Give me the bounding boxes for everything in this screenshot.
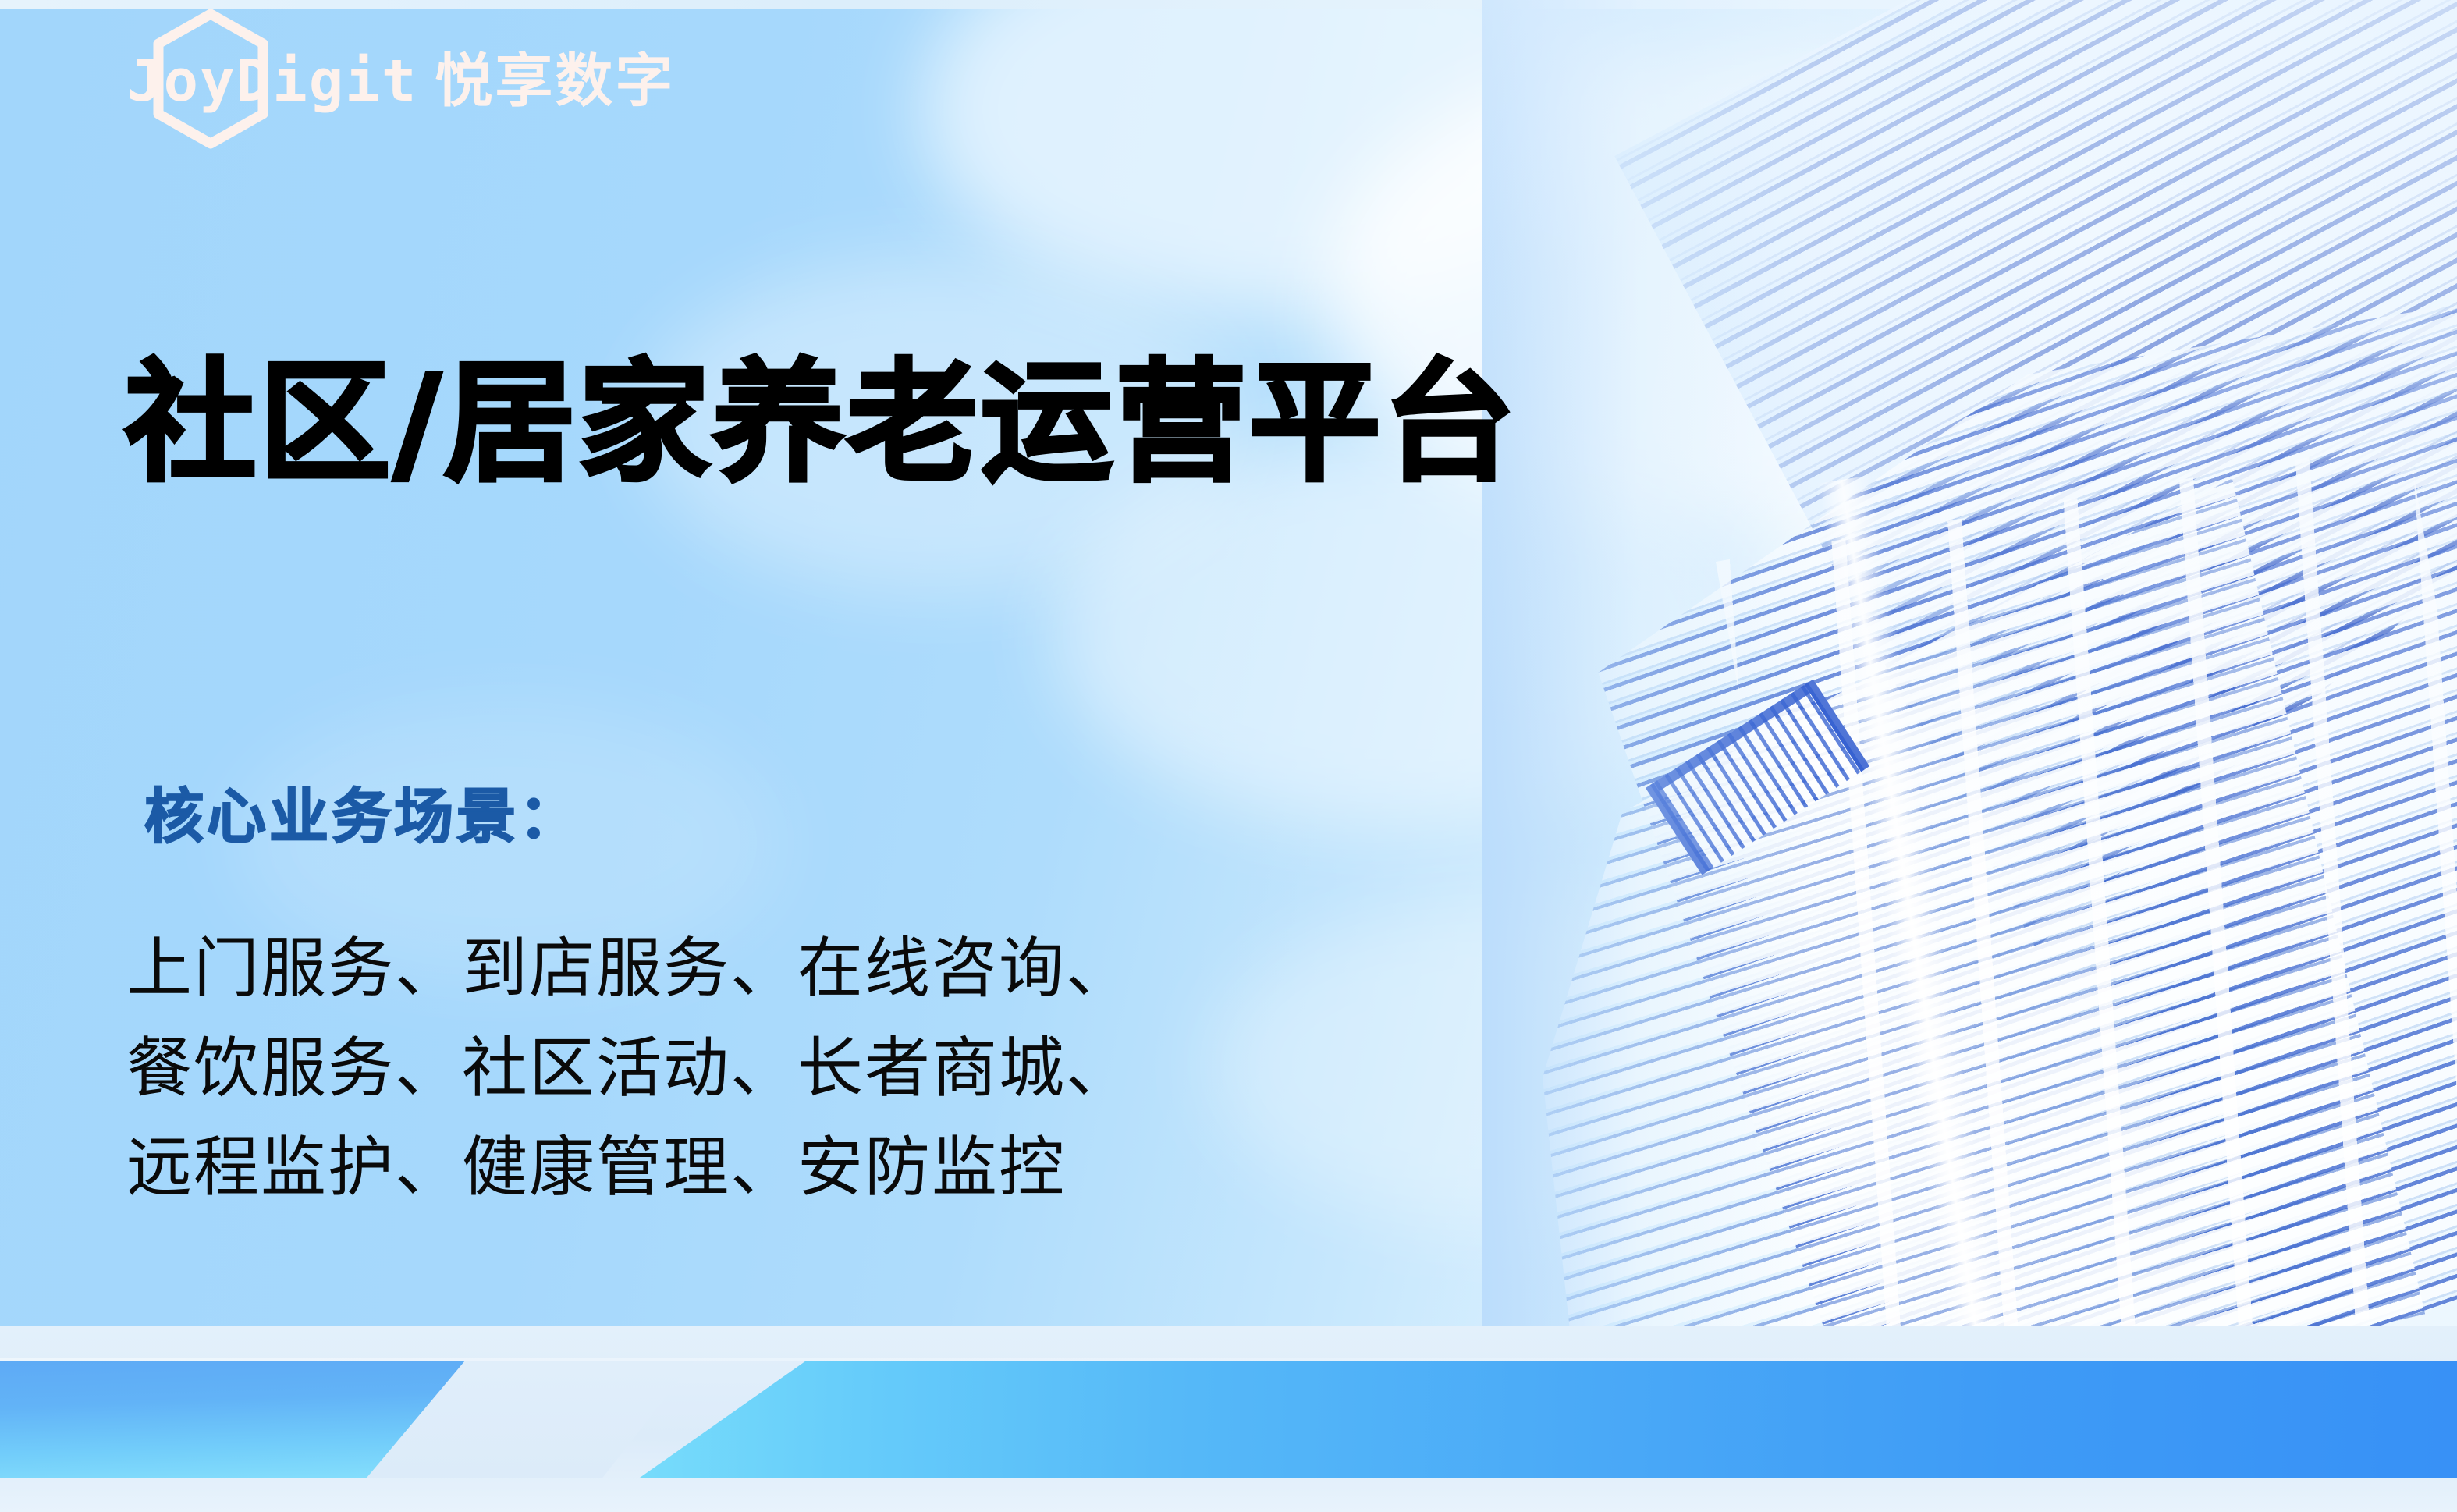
brand-logo-chinese: 悦享数字 bbox=[435, 34, 675, 118]
scenario-list: 上门服务、到店服务、在线咨询、 餐饮服务、社区活动、长者商城、 远程监护、健康管… bbox=[126, 919, 1133, 1218]
top-edge-strip bbox=[0, 0, 2457, 9]
scenario-line: 上门服务、到店服务、在线咨询、 bbox=[126, 919, 1133, 1019]
scenario-line: 餐饮服务、社区活动、长者商城、 bbox=[126, 1019, 1133, 1119]
band-shape-main bbox=[640, 1361, 2457, 1478]
scenario-line: 远程监护、健康管理、安防监控 bbox=[126, 1118, 1133, 1218]
brand-logo: JoyDigit 悦享数字 bbox=[127, 34, 658, 128]
brand-logo-text: JoyDigit 悦享数字 bbox=[127, 34, 675, 118]
section-heading: 核心业务场景： bbox=[144, 768, 581, 854]
sky-background bbox=[0, 0, 2457, 1512]
brand-logo-latin: JoyDigit bbox=[127, 48, 417, 115]
slide-title: 社区/居家养老运营平台 bbox=[125, 346, 1518, 500]
bottom-decorative-band bbox=[0, 1326, 2457, 1512]
presentation-slide: JoyDigit 悦享数字 社区/居家养老运营平台 核心业务场景： 上门服务、到… bbox=[0, 0, 2457, 1512]
